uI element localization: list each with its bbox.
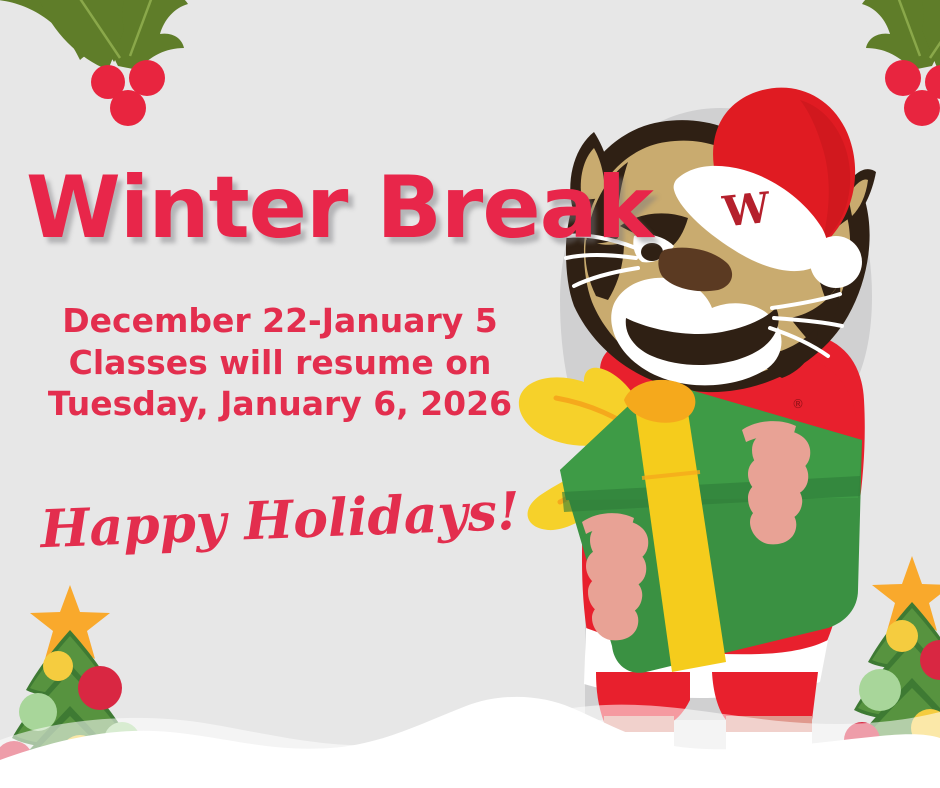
holly-berry-icon (885, 60, 921, 96)
tree-ornament (859, 669, 901, 711)
santa-pants-cuff-right (726, 690, 812, 720)
tree-ornament (19, 693, 57, 731)
break-dates: December 22-January 5 Classes will resum… (0, 300, 560, 425)
santa-hat-w-letter: W (719, 183, 773, 237)
holly-berry-icon (110, 90, 146, 126)
page-title: Winter Break (26, 158, 653, 258)
tree-ornament (886, 620, 918, 652)
trademark-icon: ® (792, 397, 804, 411)
santa-hat-pompom (810, 236, 862, 288)
break-dates-line: Classes will resume on (0, 342, 560, 384)
holly-berry-icon (904, 90, 940, 126)
break-dates-line: Tuesday, January 6, 2026 (0, 383, 560, 425)
break-dates-line: December 22-January 5 (0, 300, 560, 342)
winter-break-poster: W ® (0, 0, 940, 788)
tree-ornament (78, 666, 122, 710)
tree-ornament (43, 651, 73, 681)
holly-berry-icon (129, 60, 165, 96)
